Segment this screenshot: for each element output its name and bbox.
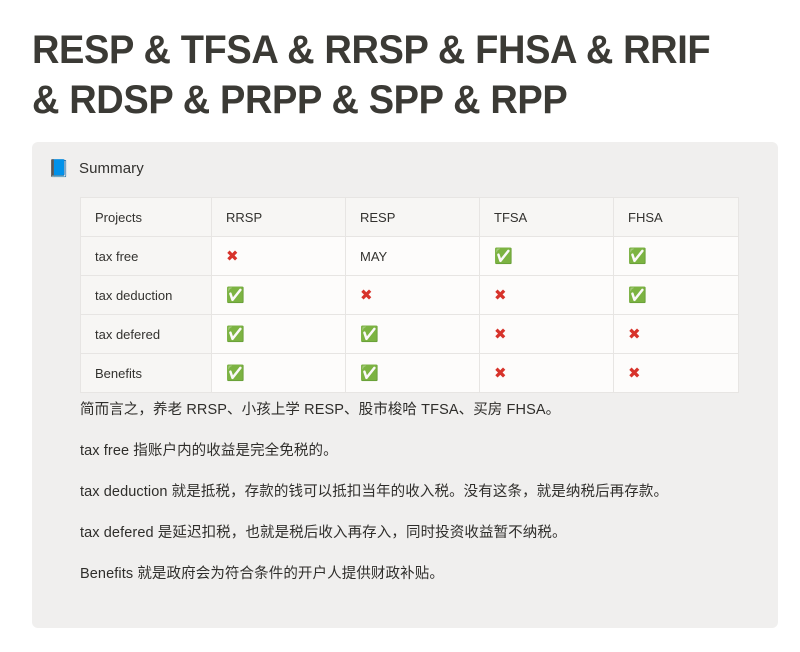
cell-tax-deduction-resp: ✖ [346, 276, 480, 315]
cell-tax-deduction-rrsp: ✅ [212, 276, 346, 315]
cell-tax-deduction-tfsa: ✖ [480, 276, 614, 315]
column-header-fhsa: FHSA [614, 198, 739, 237]
table-body: tax free ✖ MAY ✅ ✅ [81, 237, 739, 393]
column-header-resp: RESP [346, 198, 480, 237]
cell-benefits-rrsp: ✅ [212, 354, 346, 393]
note-paragraph-tax-free: tax free 指账户内的收益是完全免税的。 [80, 439, 748, 464]
check-mark-icon: ✅ [628, 249, 647, 264]
cell-benefits-fhsa: ✖ [614, 354, 739, 393]
note-paragraph-tax-deduction: tax deduction 就是抵税，存款的钱可以抵扣当年的收入税。没有这条，就… [80, 480, 748, 505]
notes-section: 简而言之，养老 RRSP、小孩上学 RESP、股市梭哈 TFSA、买房 FHSA… [80, 398, 748, 587]
check-mark-icon: ✅ [226, 366, 245, 381]
table-header-row: Projects RRSP RESP TFSA FHSA [81, 198, 739, 237]
check-mark-icon: ✅ [628, 288, 647, 303]
cross-mark-icon: ✖ [226, 249, 239, 264]
summary-card: 📘 Summary Projects RRSP RESP TFSA FHSA [32, 142, 778, 628]
summary-table: Projects RRSP RESP TFSA FHSA tax free ✖ [80, 197, 739, 393]
cross-mark-icon: ✖ [494, 366, 507, 381]
blue-book-icon: 📘 [48, 160, 67, 177]
check-mark-icon: ✅ [360, 366, 379, 381]
column-header-tfsa: TFSA [480, 198, 614, 237]
cell-tax-defered-tfsa: ✖ [480, 315, 614, 354]
check-mark-icon: ✅ [226, 327, 245, 342]
cell-tax-defered-resp: ✅ [346, 315, 480, 354]
table-row: tax deduction ✅ ✖ ✖ ✅ [81, 276, 739, 315]
table-row: tax defered ✅ ✅ ✖ ✖ [81, 315, 739, 354]
check-mark-icon: ✅ [226, 288, 245, 303]
check-mark-icon: ✅ [360, 327, 379, 342]
cell-benefits-resp: ✅ [346, 354, 480, 393]
cell-benefits-tfsa: ✖ [480, 354, 614, 393]
summary-table-wrapper: Projects RRSP RESP TFSA FHSA tax free ✖ [80, 197, 738, 393]
cross-mark-icon: ✖ [628, 366, 641, 381]
summary-heading: Summary [79, 160, 144, 177]
note-paragraph-summary: 简而言之，养老 RRSP、小孩上学 RESP、股市梭哈 TFSA、买房 FHSA… [80, 398, 748, 423]
page-root: RESP & TFSA & RRSP & FHSA & RRIF & RDSP … [0, 0, 800, 652]
row-label-tax-free: tax free [81, 237, 212, 276]
row-label-tax-deduction: tax deduction [81, 276, 212, 315]
cell-tax-free-fhsa: ✅ [614, 237, 739, 276]
cell-value-may: MAY [360, 249, 387, 264]
cross-mark-icon: ✖ [628, 327, 641, 342]
table-header: Projects RRSP RESP TFSA FHSA [81, 198, 739, 237]
check-mark-icon: ✅ [494, 249, 513, 264]
page-title: RESP & TFSA & RRSP & FHSA & RRIF & RDSP … [32, 26, 743, 125]
cross-mark-icon: ✖ [494, 288, 507, 303]
table-row: Benefits ✅ ✅ ✖ ✖ [81, 354, 739, 393]
note-paragraph-benefits: Benefits 就是政府会为符合条件的开户人提供财政补贴。 [80, 562, 748, 587]
cross-mark-icon: ✖ [360, 288, 373, 303]
cell-tax-defered-fhsa: ✖ [614, 315, 739, 354]
row-label-benefits: Benefits [81, 354, 212, 393]
table-row: tax free ✖ MAY ✅ ✅ [81, 237, 739, 276]
column-header-rrsp: RRSP [212, 198, 346, 237]
cross-mark-icon: ✖ [494, 327, 507, 342]
note-paragraph-tax-defered: tax defered 是延迟扣税，也就是税后收入再存入，同时投资收益暂不纳税。 [80, 521, 748, 546]
column-header-projects: Projects [81, 198, 212, 237]
row-label-tax-defered: tax defered [81, 315, 212, 354]
cell-tax-free-tfsa: ✅ [480, 237, 614, 276]
cell-tax-deduction-fhsa: ✅ [614, 276, 739, 315]
cell-tax-free-rrsp: ✖ [212, 237, 346, 276]
cell-tax-free-resp: MAY [346, 237, 480, 276]
cell-tax-defered-rrsp: ✅ [212, 315, 346, 354]
summary-card-header: 📘 Summary [48, 160, 144, 177]
